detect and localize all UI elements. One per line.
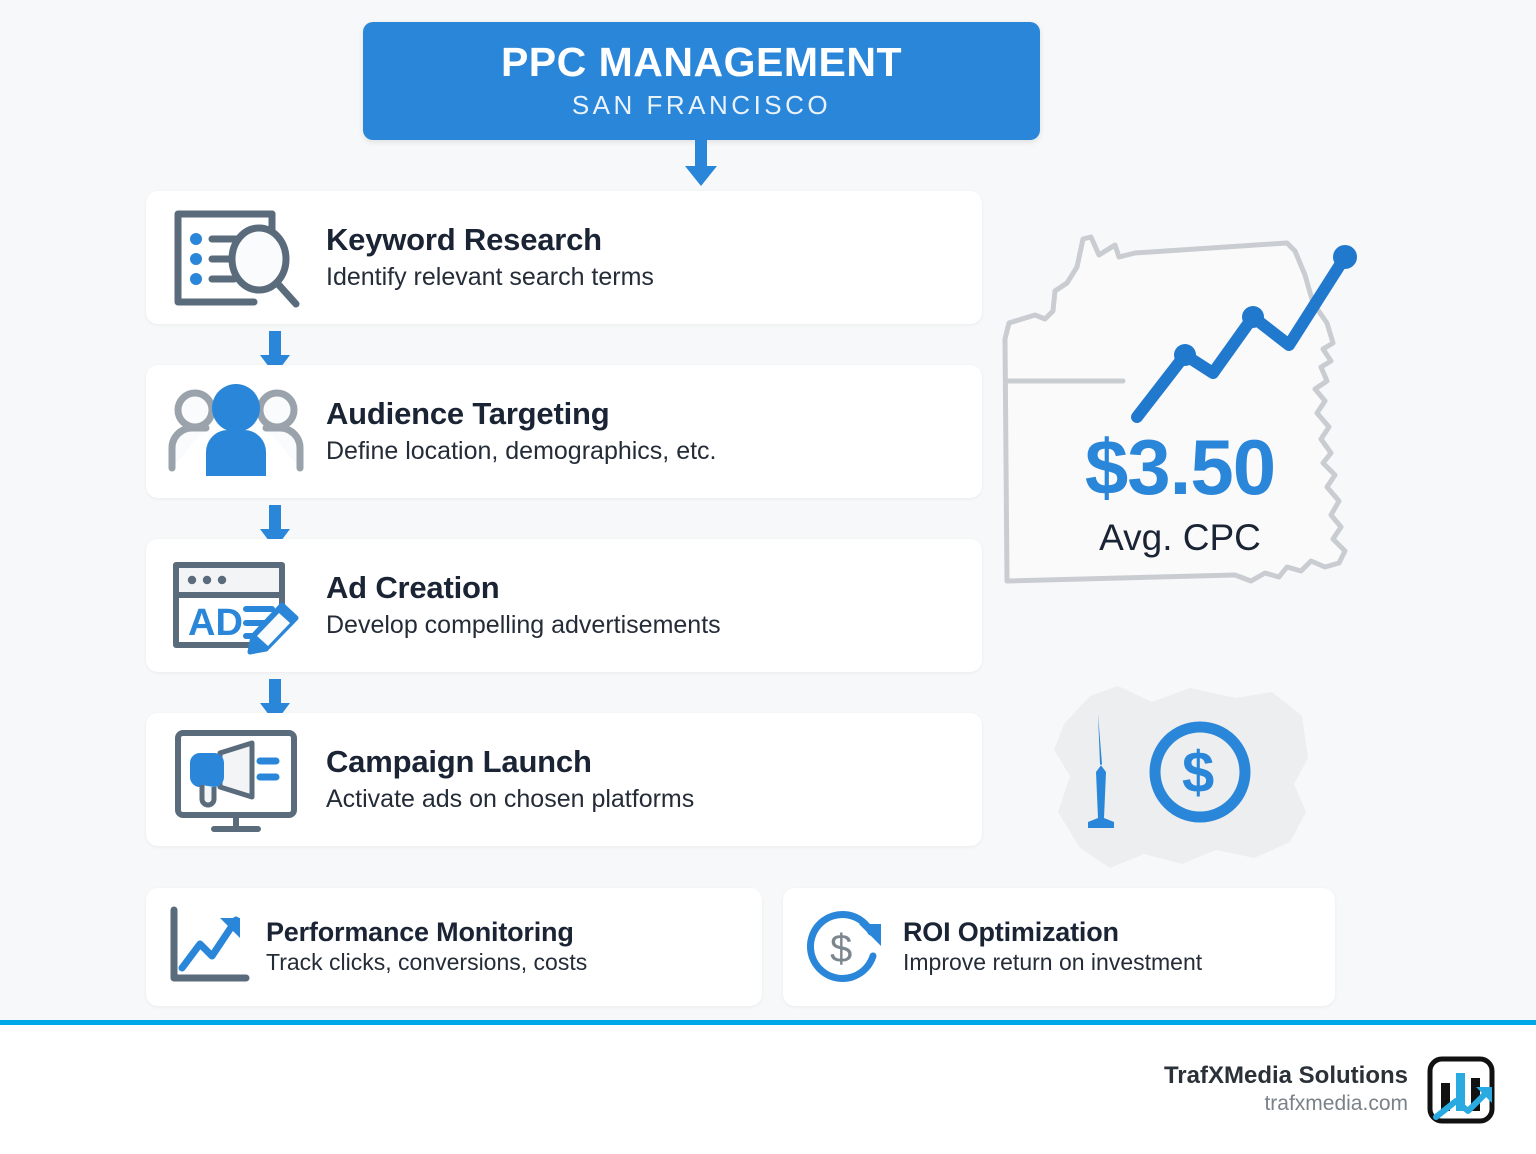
card-text: ROI Optimization Improve return on inves… xyxy=(903,917,1335,977)
document-search-icon xyxy=(146,206,326,310)
step-card-text: Campaign Launch Activate ads on chosen p… xyxy=(326,745,982,814)
step-card-text: Keyword Research Identify relevant searc… xyxy=(326,223,982,292)
people-group-icon xyxy=(146,380,326,484)
step-card-text: Audience Targeting Define location, demo… xyxy=(326,397,982,466)
footer-url[interactable]: trafxmedia.com xyxy=(1164,1091,1408,1117)
infographic-canvas: PPC MANAGEMENT SAN FRANCISCO Keyword Res… xyxy=(0,0,1536,1154)
page-subtitle: SAN FRANCISCO xyxy=(572,90,831,121)
footer: TrafXMedia Solutions trafxmedia.com xyxy=(0,1025,1536,1154)
footer-text-block: TrafXMedia Solutions trafxmedia.com xyxy=(1164,1061,1408,1117)
line-chart-up-icon xyxy=(146,904,266,990)
card-desc: Improve return on investment xyxy=(903,949,1315,977)
page-title: PPC MANAGEMENT xyxy=(501,41,902,84)
step-desc: Develop compelling advertisements xyxy=(326,610,962,640)
card-desc: Track clicks, conversions, costs xyxy=(266,949,742,977)
step-card-ad-creation[interactable]: AD Ad Creation Develop compelling advert… xyxy=(146,539,982,672)
step-title: Audience Targeting xyxy=(326,397,962,432)
sutro-tower-dollar-badge: $ xyxy=(1040,672,1330,882)
svg-text:$: $ xyxy=(830,927,852,971)
browser-ad-pencil-icon: AD xyxy=(146,553,326,659)
card-text: Performance Monitoring Track clicks, con… xyxy=(266,917,762,977)
footer-brand: TrafXMedia Solutions xyxy=(1164,1061,1408,1091)
card-performance-monitoring[interactable]: Performance Monitoring Track clicks, con… xyxy=(146,888,762,1006)
step-card-text: Ad Creation Develop compelling advertise… xyxy=(326,571,982,640)
card-title: Performance Monitoring xyxy=(266,917,742,947)
trend-point-1 xyxy=(1174,344,1196,366)
step-card-campaign-launch[interactable]: Campaign Launch Activate ads on chosen p… xyxy=(146,713,982,846)
down-arrow-icon xyxy=(679,140,723,186)
trend-point-2 xyxy=(1242,306,1264,328)
dollar-refresh-icon: $ xyxy=(783,904,903,990)
svg-text:$: $ xyxy=(1182,740,1214,805)
step-title: Campaign Launch xyxy=(326,745,962,780)
header-banner: PPC MANAGEMENT SAN FRANCISCO xyxy=(363,22,1040,140)
trend-point-3 xyxy=(1333,245,1357,269)
bar-chart-arrow-logo xyxy=(1426,1055,1496,1125)
step-card-audience-targeting[interactable]: Audience Targeting Define location, demo… xyxy=(146,365,982,498)
card-roi-optimization[interactable]: $ ROI Optimization Improve return on inv… xyxy=(783,888,1335,1006)
step-card-keyword-research[interactable]: Keyword Research Identify relevant searc… xyxy=(146,191,982,324)
card-title: ROI Optimization xyxy=(903,917,1315,947)
stat-label: Avg. CPC xyxy=(1040,518,1320,559)
stat-value: $3.50 xyxy=(1040,428,1320,506)
badge-blob xyxy=(1054,686,1308,868)
step-title: Keyword Research xyxy=(326,223,962,258)
ad-icon-label: AD xyxy=(188,602,243,644)
step-title: Ad Creation xyxy=(326,571,962,606)
step-desc: Activate ads on chosen platforms xyxy=(326,784,962,814)
step-desc: Identify relevant search terms xyxy=(326,262,962,292)
monitor-megaphone-icon xyxy=(146,725,326,835)
step-desc: Define location, demographics, etc. xyxy=(326,436,962,466)
